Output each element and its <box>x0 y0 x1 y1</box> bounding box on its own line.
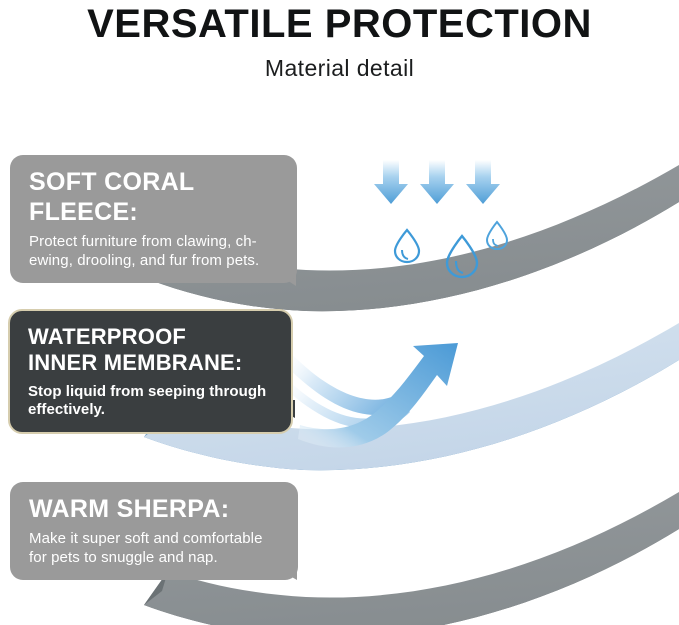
down-arrow-icon <box>420 160 454 204</box>
callout-heading-line: INNER MEMBRANE: <box>28 350 242 375</box>
callout-body-line: for pets to snuggle and nap. <box>29 549 218 566</box>
callout-body-line: ewing, drooling, and fur from pets. <box>29 252 259 269</box>
callout-heading: SOFT CORAL FLEECE: <box>29 167 281 227</box>
callout-body-line: Make it super soft and comfortable <box>29 530 263 547</box>
callout-soft-coral-fleece: SOFT CORAL FLEECE: Protect furniture fro… <box>10 155 297 283</box>
callout-body-line: Protect furniture from clawing, ch- <box>29 233 257 250</box>
callout-body-line: Stop liquid from seeping through <box>28 383 266 400</box>
callout-heading-line: WATERPROOF <box>28 324 186 349</box>
callout-waterproof-inner-membrane: WATERPROOF INNER MEMBRANE: Stop liquid f… <box>8 309 293 434</box>
callout-body: Protect furniture from clawing, ch- ewin… <box>29 227 281 270</box>
callout-body: Make it super soft and comfortable for p… <box>29 524 282 567</box>
down-arrow-icon <box>466 160 500 204</box>
down-arrow-icon <box>374 160 408 204</box>
infographic-canvas: VERSATILE PROTECTION Material detail <box>0 0 679 625</box>
callout-heading: WARM SHERPA: <box>29 494 282 524</box>
callout-warm-sherpa: WARM SHERPA: Make it super soft and comf… <box>10 482 298 580</box>
water-droplet-icon <box>395 230 419 262</box>
callout-heading: WATERPROOF INNER MEMBRANE: <box>28 324 275 376</box>
callout-body: Stop liquid from seeping through effecti… <box>28 376 275 419</box>
callout-body-line: effectively. <box>28 401 105 418</box>
